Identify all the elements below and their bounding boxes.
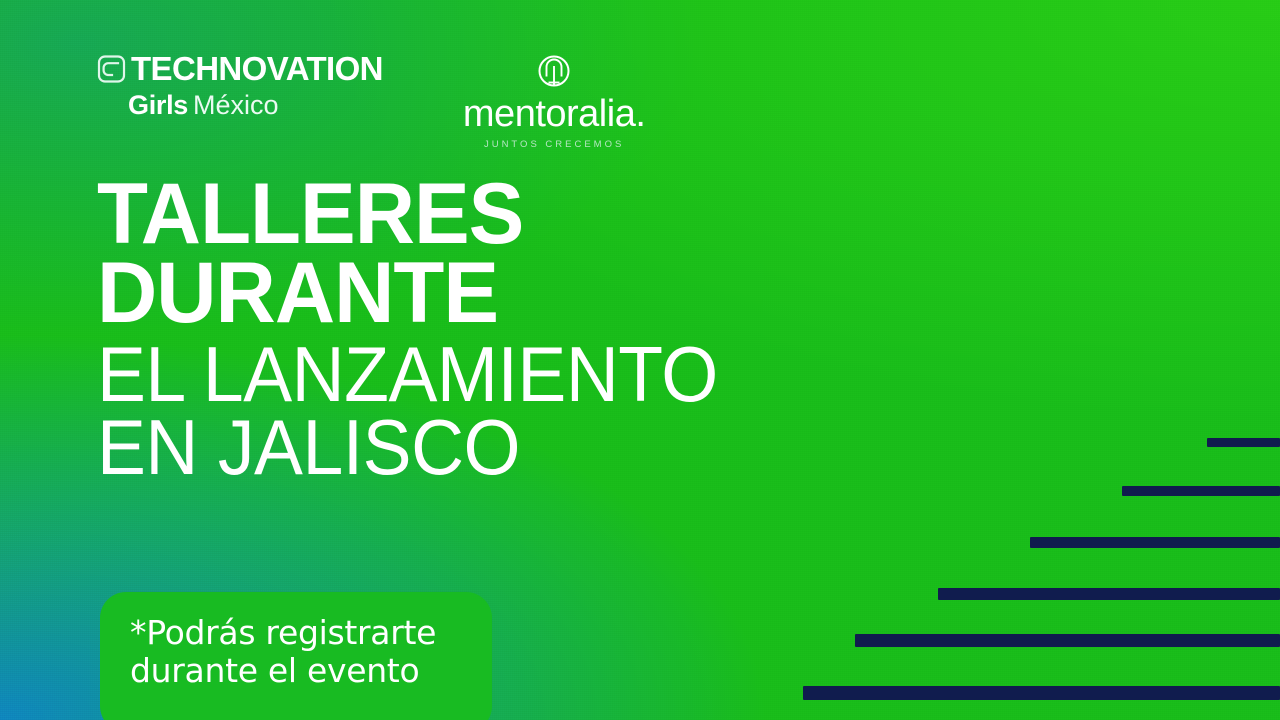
badge-line-2: durante el evento [130,652,466,690]
headline-line-4: EN JALISCO [97,414,718,481]
mentoralia-circle-icon [533,52,575,94]
headline-line-3: EL LANZAMIENTO [97,341,718,408]
badge-line-1: *Podrás registrarte [130,614,466,652]
headline-line-1: TALLERES [97,178,738,252]
mentoralia-wordmark-text: mentoralia [463,93,635,135]
technovation-wordmark-row: TECHNOVATION [97,52,383,85]
mentoralia-logo: mentoralia. JUNTOS CRECEMOS [463,52,645,150]
mentoralia-wordmark: mentoralia. [463,95,645,133]
mentoralia-tagline: JUNTOS CRECEMOS [463,139,645,150]
headline-block: TALLERES DURANTE EL LANZAMIENTO EN JALIS… [97,178,758,481]
headline-line-2: DURANTE [97,257,738,331]
poster-canvas: TECHNOVATION GirlsMéxico mentoralia. JUN… [0,0,1280,720]
technovation-subtitle: GirlsMéxico [128,92,383,119]
mentoralia-wordmark-dot: . [635,93,645,135]
logo-row: TECHNOVATION GirlsMéxico mentoralia. JUN… [97,52,645,150]
technovation-logo: TECHNOVATION GirlsMéxico [97,52,383,119]
technovation-wordmark: TECHNOVATION [131,52,383,85]
technovation-sub-mexico: México [193,90,279,120]
registration-note-badge: *Podrás registrarte durante el evento [100,592,492,720]
technovation-sub-girls: Girls [128,90,188,120]
technovation-mark-icon [97,54,127,84]
